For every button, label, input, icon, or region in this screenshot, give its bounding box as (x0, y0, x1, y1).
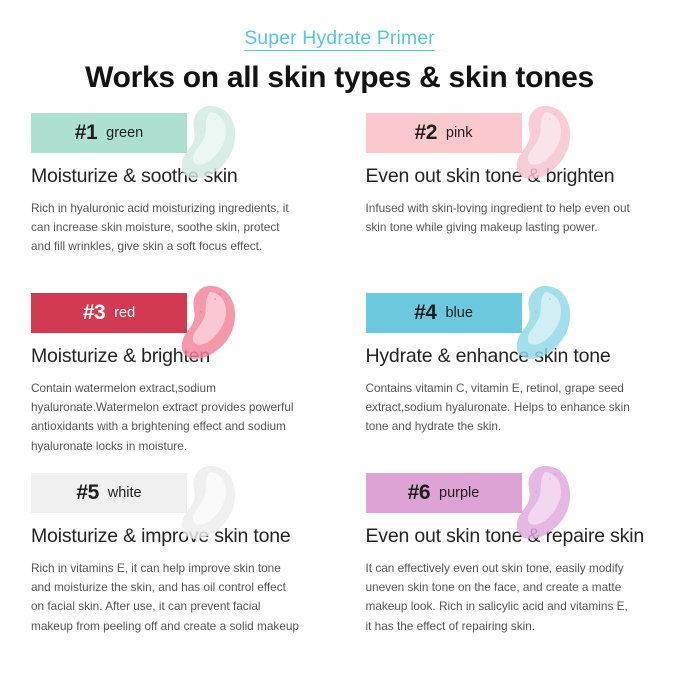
benefit-description: Contain watermelon extract,sodium hyalur… (31, 379, 299, 455)
shade-label-bar-5: #5 white (31, 473, 187, 513)
benefit-heading: Even out skin tone & brighten (366, 165, 660, 188)
header: Super Hydrate Primer Works on all skin t… (0, 0, 679, 96)
benefit-description: Rich in vitamins E, it can help improve … (31, 559, 299, 635)
shade-color-name: green (106, 126, 143, 141)
shade-label-bar-1: #1 green (31, 113, 187, 153)
benefit-heading: Moisturize & improve skin tone (31, 525, 325, 548)
infographic-page: Super Hydrate Primer Works on all skin t… (0, 0, 679, 679)
shade-number: #1 (75, 122, 97, 143)
benefits-grid: #1 green (0, 113, 679, 668)
label-row: #6 purple (355, 473, 660, 519)
label-row: #1 green (20, 113, 325, 159)
product-name-eyebrow: Super Hydrate Primer (244, 27, 435, 51)
shade-label-bar-3: #3 red (31, 293, 187, 333)
benefit-description: Rich in hyaluronic acid moisturizing ing… (31, 199, 299, 256)
shade-number: #6 (408, 482, 430, 503)
benefit-card-5: #5 white Moisturize & improve skin tone … (20, 473, 325, 668)
benefit-heading: Hydrate & enhance skin tone (366, 345, 660, 368)
label-row: #2 pink (355, 113, 660, 159)
label-row: #5 white (20, 473, 325, 519)
label-row: #3 red (20, 293, 325, 339)
shade-color-name: blue (445, 306, 472, 321)
shade-number: #2 (415, 122, 437, 143)
shade-color-name: purple (439, 486, 479, 501)
shade-label-bar-6: #6 purple (366, 473, 522, 513)
benefit-heading: Moisturize & soothe skin (31, 165, 325, 188)
benefit-card-1: #1 green (20, 113, 325, 293)
benefit-card-4: #4 blue Hydrate & enhance skin tone Cont… (355, 293, 660, 473)
page-title: Works on all skin types & skin tones (0, 60, 679, 95)
shade-number: #5 (76, 482, 98, 503)
shade-color-name: pink (446, 126, 473, 141)
benefit-card-3: #3 red Moisturize & brighten Contain wat… (20, 293, 325, 473)
label-row: #4 blue (355, 293, 660, 339)
benefit-card-6: #6 purple Even out skin tone & repaire s… (355, 473, 660, 668)
benefit-heading: Moisturize & brighten (31, 345, 325, 368)
benefit-heading: Even out skin tone & repaire skin (366, 525, 660, 548)
benefit-description: Infused with skin-loving ingredient to h… (366, 199, 634, 237)
benefit-card-2: #2 pink Even out skin tone & brighten In… (355, 113, 660, 293)
shade-color-name: white (108, 486, 142, 501)
benefit-description: Contains vitamin C, vitamin E, retinol, … (366, 379, 634, 436)
shade-label-bar-4: #4 blue (366, 293, 522, 333)
benefit-description: It can effectively even out skin tone, e… (366, 559, 634, 635)
shade-color-name: red (114, 306, 135, 321)
shade-label-bar-2: #2 pink (366, 113, 522, 153)
shade-number: #3 (83, 302, 105, 323)
shade-number: #4 (414, 302, 436, 323)
